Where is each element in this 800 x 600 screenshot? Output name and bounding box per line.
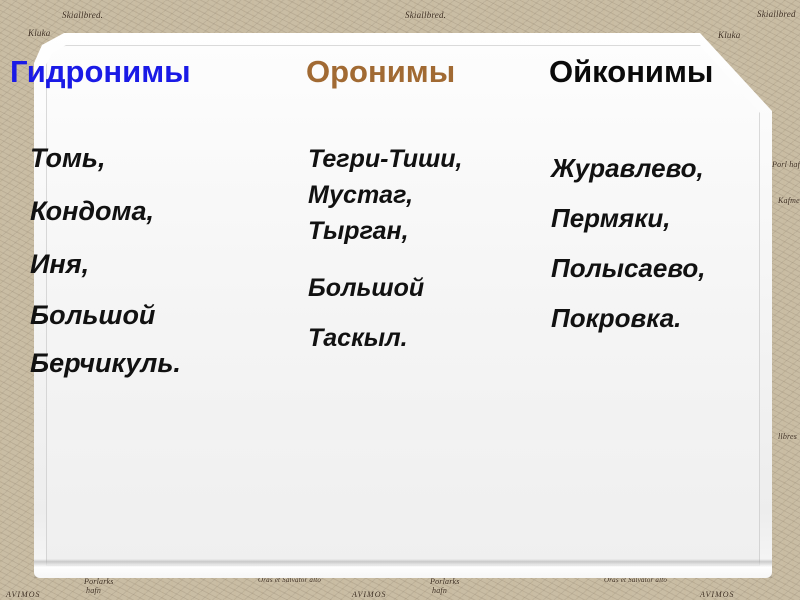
map-label: llbres [778,432,797,441]
list-item: Тырган, [308,213,543,249]
map-label: Skiallbred [757,9,796,19]
list-item: Иня, [30,238,298,291]
list-item: Пермяки, [551,193,797,243]
map-label: AVIMOS [352,590,386,599]
map-label: AVIMOS [700,590,734,599]
map-label: Porlarks [430,577,460,586]
column-title-hydronyms: Гидронимы [10,52,298,92]
list-item: Мустаг, [308,177,543,213]
hydronym-list: Томь, Кондома, Иня, Большой Берчикуль. [10,132,298,387]
map-label: Skiallbred. [62,10,103,20]
list-item: Большой [308,263,543,313]
oronym-list: Тегри-Тиши, Мустаг, Тырган, Большой Таск… [303,141,543,363]
map-label: Skiallbred. [405,10,446,20]
list-item: Полысаево, [551,243,797,293]
column-oikonyms: Ойконимы Журавлево, Пермяки, Полысаево, … [547,52,797,343]
slide-canvas: Skiallbred. Skiallbred. Skiallbred Kluka… [0,0,800,600]
column-title-oikonyms: Ойконимы [547,52,797,92]
list-item: Журавлево, [551,143,797,193]
list-item: Тегри-Тиши, [308,141,543,177]
column-title-oronyms: Оронимы [303,52,543,92]
oikonym-list: Журавлево, Пермяки, Полысаево, Покровка. [547,143,797,343]
list-item: Томь, [30,132,298,185]
map-label: Kluka [28,28,51,38]
column-hydronyms: Гидронимы Томь, Кондома, Иня, Большой Бе… [10,52,298,387]
map-label: hafn [432,586,447,595]
map-label: hafn [86,586,101,595]
map-label: AVIMOS [6,590,40,599]
list-item: Кондома, [30,185,298,238]
list-item: Большой Берчикуль. [30,291,298,387]
map-label: Porlarks [84,577,114,586]
list-item: Таскыл. [308,313,543,363]
list-item: Покровка. [551,293,797,343]
column-oronyms: Оронимы Тегри-Тиши, Мустаг, Тырган, Боль… [303,52,543,363]
map-label: Kluka [718,30,741,40]
